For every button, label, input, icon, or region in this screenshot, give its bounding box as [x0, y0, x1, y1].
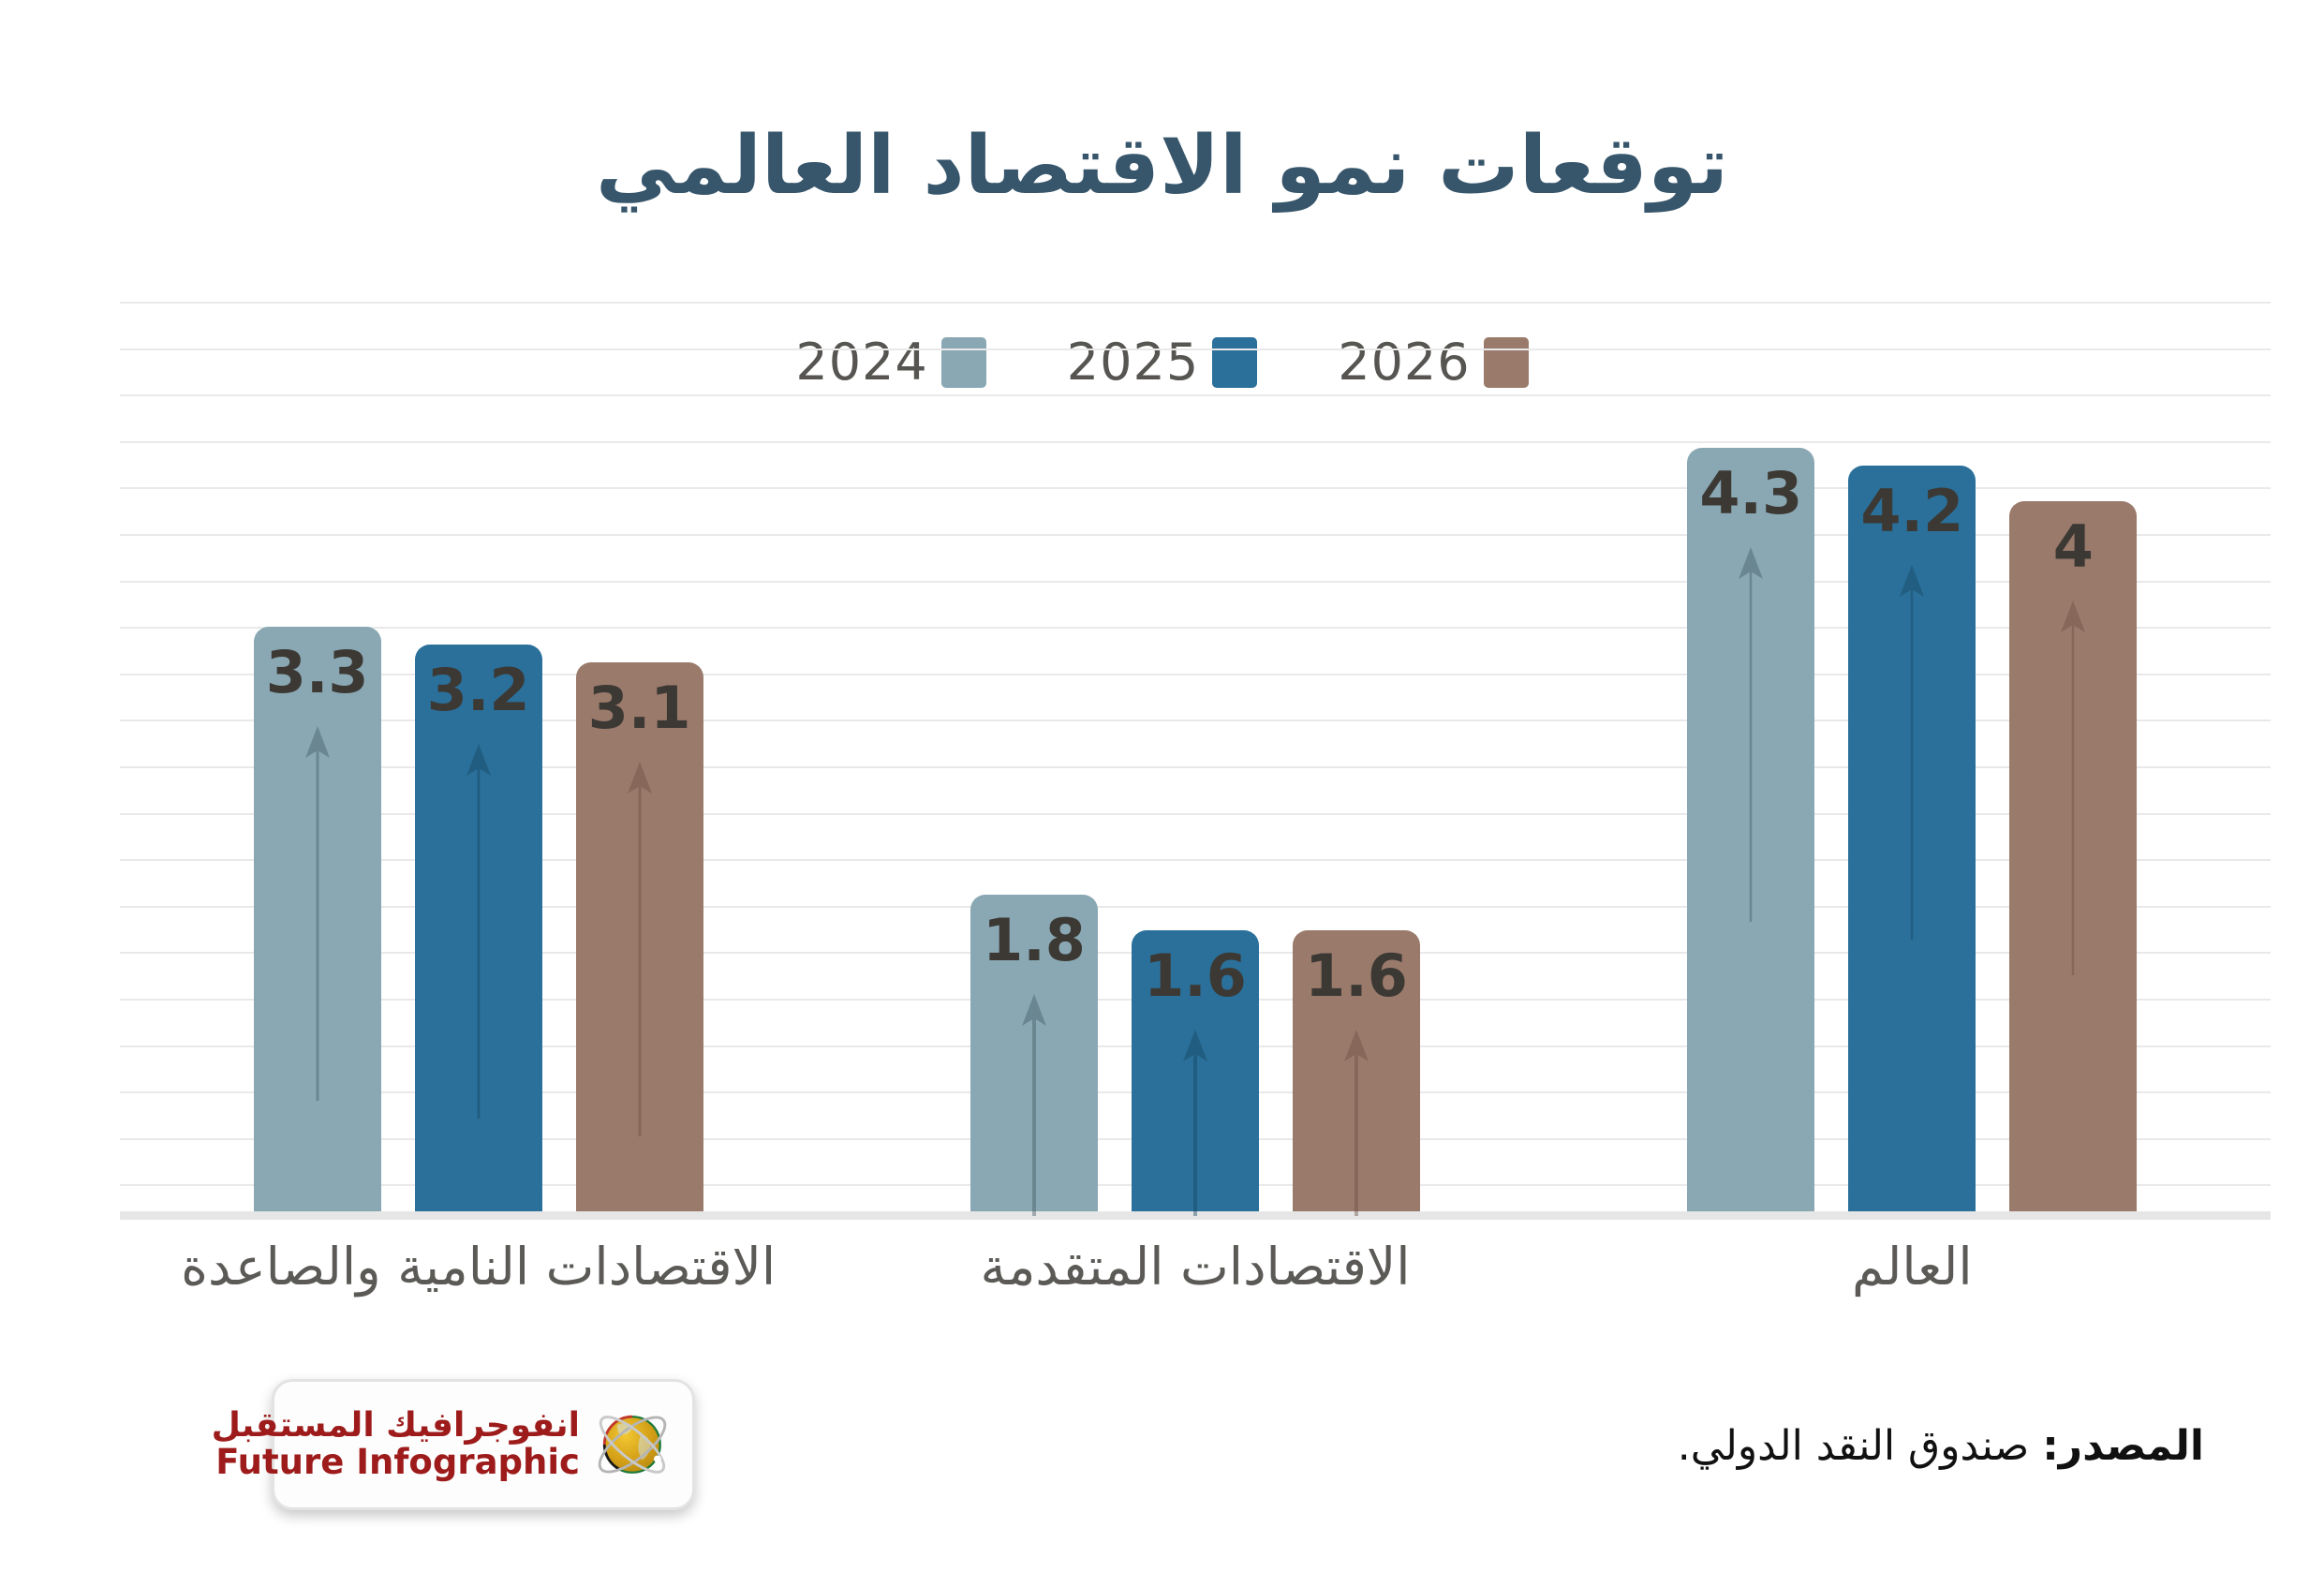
- bar-2025-emerging[interactable]: 4.2: [1848, 466, 1976, 1216]
- x-axis-category-labels: العالم الاقتصادات المتقدمة الاقتصادات ال…: [120, 1237, 2271, 1297]
- bar-2024-world[interactable]: 3.3: [254, 627, 381, 1216]
- category-label-advanced-economies: الاقتصادات المتقدمة: [836, 1237, 1553, 1297]
- bar-group-emerging-economies: 4.3 4.2 4: [1554, 302, 2271, 1216]
- bar-wrap: 1.6: [1293, 930, 1420, 1216]
- bar-value-label: 4: [2053, 518, 2094, 576]
- up-arrow-icon: [1338, 1030, 1375, 1216]
- bar-2026-world[interactable]: 3.1: [576, 662, 703, 1216]
- bar-wrap: 3.3: [254, 627, 381, 1216]
- bar-value-label: 3.3: [266, 644, 369, 702]
- brand-logo-text: انفوجرافيك المستقبل Future Infographic: [212, 1408, 580, 1482]
- bar-value-label: 3.2: [427, 661, 530, 719]
- page-title: توقعات نمو الاقتصاد العالمي: [0, 120, 2324, 213]
- bar-wrap: 4.2: [1848, 466, 1976, 1216]
- brand-logo[interactable]: انفوجرافيك المستقبل Future Infographic: [272, 1379, 695, 1510]
- bar-wrap: 1.8: [970, 895, 1098, 1216]
- up-arrow-icon: [460, 744, 497, 1119]
- brand-logo-arabic: انفوجرافيك المستقبل: [212, 1408, 580, 1445]
- up-arrow-icon: [621, 762, 659, 1136]
- source-value-label: صندوق النقد الدولي.: [1678, 1422, 2029, 1470]
- bar-value-label: 1.6: [1305, 947, 1408, 1005]
- bar-2025-world[interactable]: 3.2: [415, 645, 542, 1216]
- bar-value-label: 4.3: [1699, 465, 1802, 523]
- bar-wrap: 3.1: [576, 662, 703, 1216]
- bar-group-world: 3.3 3.2 3.1: [120, 302, 836, 1216]
- category-label-world: العالم: [1554, 1237, 2271, 1297]
- up-arrow-icon: [1177, 1030, 1214, 1216]
- bar-value-label: 4.2: [1860, 482, 1963, 541]
- bar-wrap: 3.2: [415, 645, 542, 1216]
- globe-icon: [587, 1400, 677, 1490]
- source-prefix-label: المصدر:: [2042, 1422, 2204, 1470]
- bar-wrap: 4: [2009, 501, 2137, 1216]
- bar-value-label: 1.8: [983, 912, 1086, 970]
- up-arrow-icon: [1893, 565, 1931, 940]
- bar-group-advanced-economies: 1.8 1.6 1.6: [836, 302, 1553, 1216]
- up-arrow-icon: [2054, 601, 2092, 975]
- bar-value-label: 1.6: [1144, 947, 1247, 1005]
- bar-wrap: 1.6: [1132, 930, 1259, 1216]
- chart-bar-groups: 3.3 3.2 3.1: [120, 302, 2271, 1216]
- bar-2024-advanced[interactable]: 1.8: [970, 895, 1098, 1216]
- bar-2026-emerging[interactable]: 4: [2009, 501, 2137, 1216]
- bar-2024-emerging[interactable]: 4.3: [1687, 448, 1814, 1216]
- bar-2025-advanced[interactable]: 1.6: [1132, 930, 1259, 1216]
- up-arrow-icon: [1015, 994, 1053, 1216]
- bar-2026-advanced[interactable]: 1.6: [1293, 930, 1420, 1216]
- chart-plot-area: 3.3 3.2 3.1: [120, 302, 2271, 1216]
- up-arrow-icon: [299, 726, 336, 1101]
- bar-value-label: 3.1: [588, 679, 691, 737]
- brand-logo-english: Future Infographic: [215, 1444, 580, 1481]
- category-label-emerging-economies: الاقتصادات النامية والصاعدة: [120, 1237, 836, 1297]
- up-arrow-icon: [1732, 547, 1769, 922]
- bar-wrap: 4.3: [1687, 448, 1814, 1216]
- source-note: المصدر: صندوق النقد الدولي.: [1678, 1422, 2204, 1470]
